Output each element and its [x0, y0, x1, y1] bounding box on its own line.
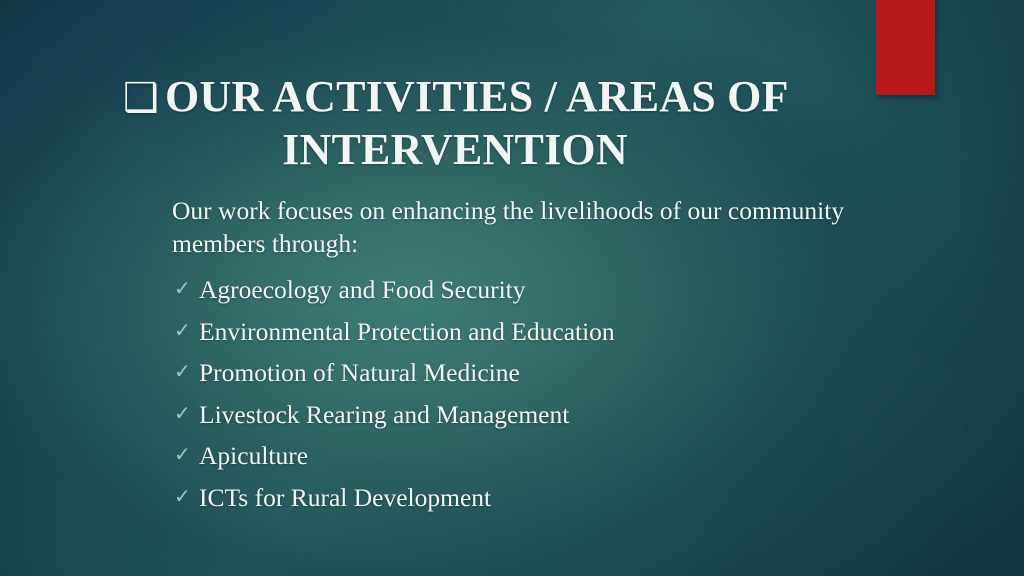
checkmark-icon: ✓ [174, 435, 191, 477]
list-item-label: ICTs for Rural Development [199, 483, 491, 512]
checkmark-icon: ✓ [174, 394, 191, 436]
checkmark-icon: ✓ [174, 269, 191, 311]
presentation-slide: ❑OUR ACTIVITIES / AREAS OF INTERVENTION … [0, 0, 1024, 576]
slide-title-line-1: OUR ACTIVITIES / AREAS OF [165, 72, 787, 121]
list-item-label: Apiculture [199, 441, 308, 470]
list-item: ✓ Apiculture [172, 435, 892, 477]
checkmark-icon: ✓ [174, 477, 191, 519]
slide-title: ❑OUR ACTIVITIES / AREAS OF INTERVENTION [60, 71, 850, 176]
list-item-label: Agroecology and Food Security [199, 275, 525, 304]
intro-paragraph: Our work focuses on enhancing the liveli… [172, 194, 892, 260]
list-item-label: Environmental Protection and Education [199, 317, 615, 346]
list-item: ✓ Agroecology and Food Security [172, 269, 892, 311]
list-item: ✓ Livestock Rearing and Management [172, 394, 892, 436]
slide-title-line-2: INTERVENTION [282, 125, 628, 174]
title-box-bullet-icon: ❑ [123, 75, 165, 120]
list-item: ✓ ICTs for Rural Development [172, 477, 892, 519]
checkmark-icon: ✓ [174, 311, 191, 353]
checkmark-icon: ✓ [174, 352, 191, 394]
activities-list: ✓ Agroecology and Food Security ✓ Enviro… [172, 269, 892, 518]
list-item: ✓ Promotion of Natural Medicine [172, 352, 892, 394]
list-item-label: Promotion of Natural Medicine [199, 358, 520, 387]
slide-body: Our work focuses on enhancing the liveli… [172, 194, 892, 518]
list-item-label: Livestock Rearing and Management [199, 400, 569, 429]
list-item: ✓ Environmental Protection and Education [172, 311, 892, 353]
red-accent-bar [876, 0, 935, 95]
